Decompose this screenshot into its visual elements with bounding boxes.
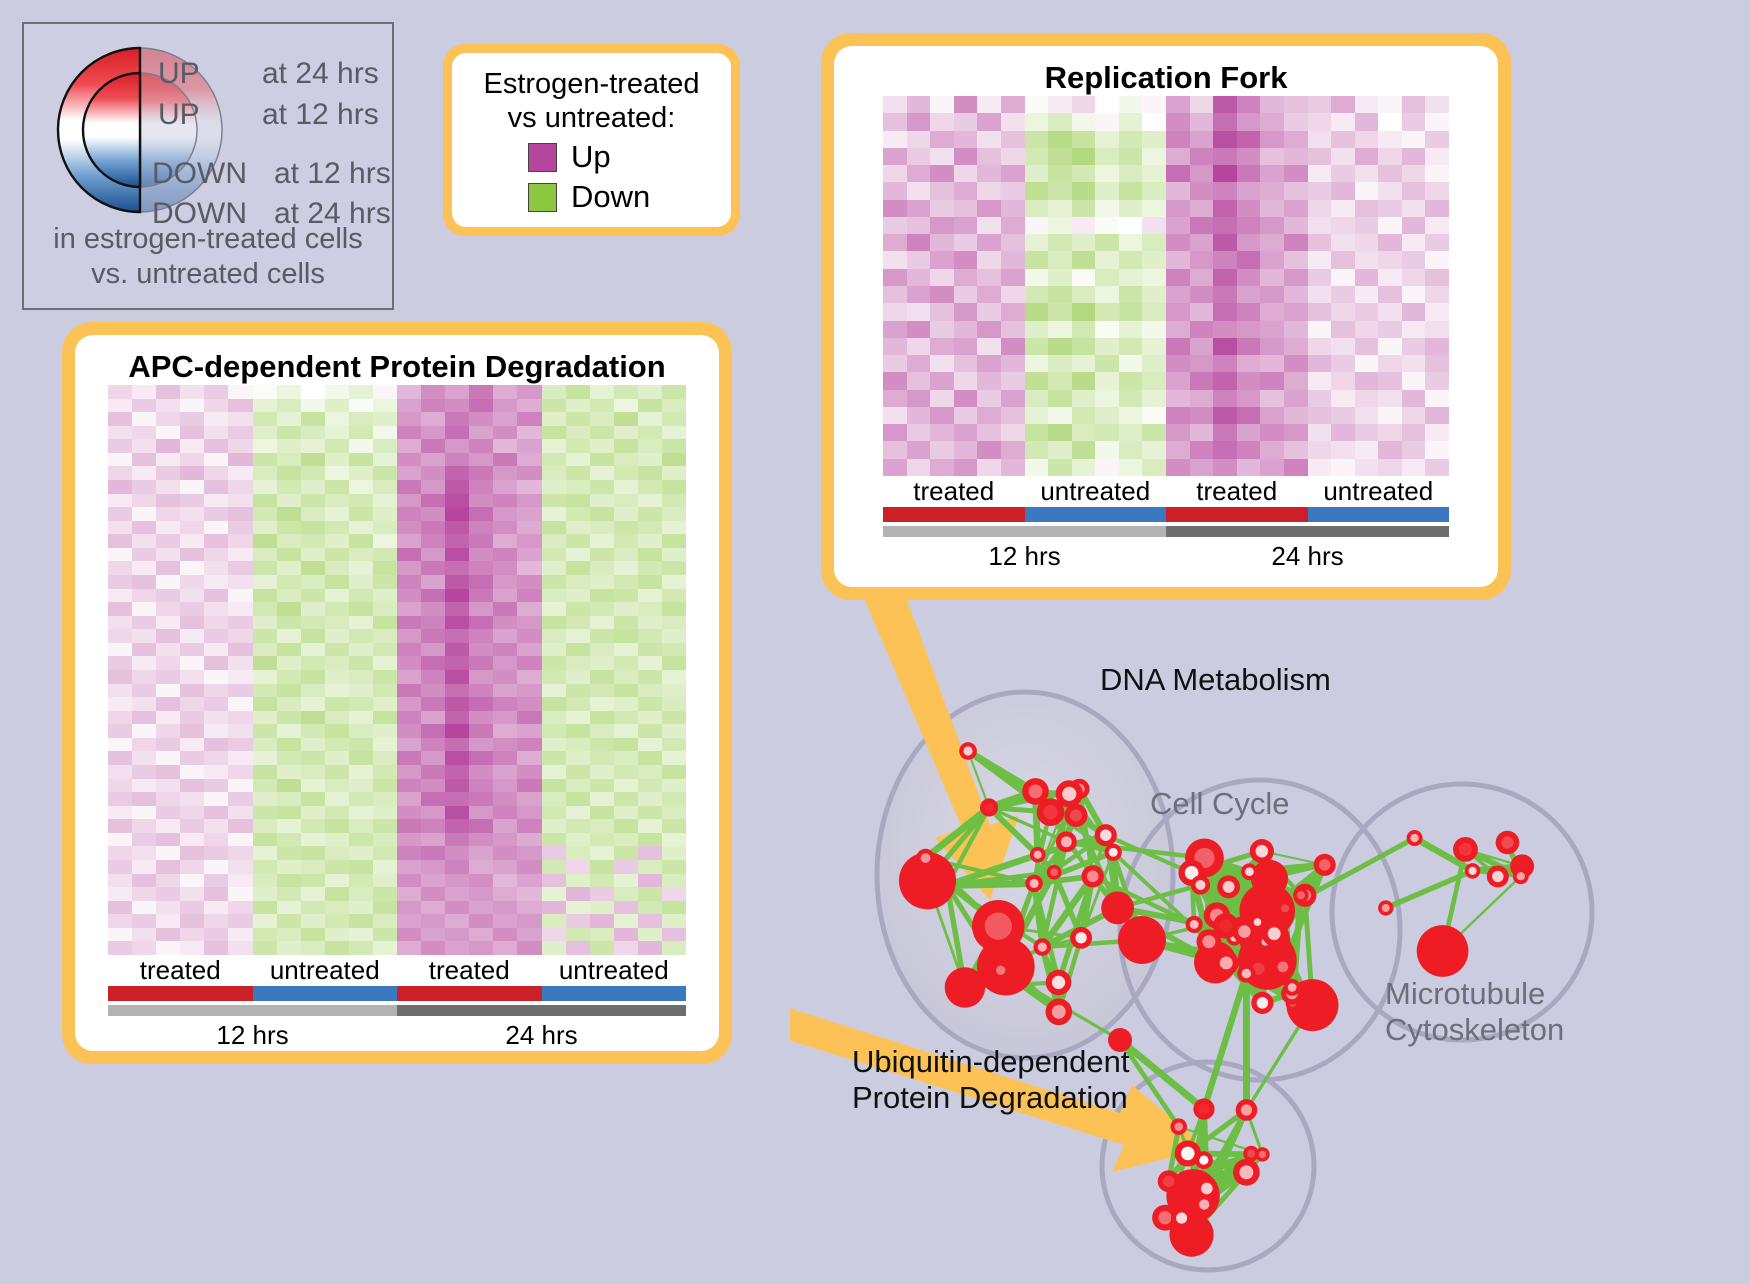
heatmap-cell — [1213, 182, 1237, 199]
heatmap-cell — [977, 355, 1001, 372]
heatmap-cell — [1095, 424, 1119, 441]
network-node[interactable] — [1170, 1118, 1187, 1135]
heatmap-cell — [373, 751, 397, 765]
node-inner-fill — [1382, 904, 1390, 912]
heatmap-cell — [469, 874, 493, 888]
heatmap-cell — [566, 670, 590, 684]
heatmap-cell — [277, 548, 301, 562]
heatmap-cell — [930, 251, 954, 268]
heatmap-cell — [397, 643, 421, 657]
heatmap-cell — [132, 684, 156, 698]
network-node[interactable] — [1241, 863, 1258, 880]
network-node[interactable] — [1186, 916, 1203, 933]
network-node[interactable] — [1193, 1098, 1214, 1119]
heatmap-cell — [1025, 269, 1049, 286]
heatmap-cell — [204, 643, 228, 657]
heatmap-cell — [373, 765, 397, 779]
heatmap-cell — [349, 439, 373, 453]
heatmap-cell — [156, 426, 180, 440]
network-node[interactable] — [1236, 1099, 1258, 1121]
heatmap-cell — [566, 399, 590, 413]
heatmap-cell — [662, 941, 686, 955]
heatmap-cell — [277, 914, 301, 928]
heatmap-cell — [325, 765, 349, 779]
heatmap-cell — [325, 779, 349, 793]
heatmap-cell — [373, 629, 397, 643]
heatmap-cell — [108, 724, 132, 738]
heatmap-cell — [445, 751, 469, 765]
heatmap-cell — [1355, 424, 1379, 441]
heatmap-cell — [638, 928, 662, 942]
heatmap-cell — [228, 575, 252, 589]
heatmap-cell — [1284, 113, 1308, 130]
network-node[interactable] — [1101, 892, 1134, 925]
heatmap-cell — [301, 928, 325, 942]
network-node[interactable] — [940, 878, 955, 893]
heatmap-cell — [1331, 251, 1355, 268]
heatmap-cell — [590, 765, 614, 779]
heatmap-cell — [301, 941, 325, 955]
heatmap-cell — [590, 494, 614, 508]
heatmap-cell — [662, 643, 686, 657]
heatmap-cell — [277, 887, 301, 901]
network-node[interactable] — [1273, 957, 1294, 978]
heatmap-cell — [542, 643, 566, 657]
heatmap-cell — [325, 412, 349, 426]
network-node[interactable] — [1056, 780, 1083, 807]
heatmap-cell — [1331, 390, 1355, 407]
network-node[interactable] — [1095, 824, 1117, 846]
heatmap-cell — [907, 217, 931, 234]
heatmap-cell — [1331, 182, 1355, 199]
heatmap-cell — [156, 711, 180, 725]
heatmap-cell — [638, 765, 662, 779]
heatmap-cell — [614, 697, 638, 711]
heatmap-cell — [108, 874, 132, 888]
heatmap-cell — [445, 466, 469, 480]
heatmap-cell — [180, 724, 204, 738]
heatmap-cell — [397, 629, 421, 643]
heatmap-cell — [325, 846, 349, 860]
heatmap-cell — [108, 711, 132, 725]
network-node[interactable] — [1262, 921, 1287, 946]
heatmap-cell — [156, 548, 180, 562]
heatmap-cell — [204, 751, 228, 765]
heatmap-cell — [445, 887, 469, 901]
heatmap-cell — [614, 711, 638, 725]
heatmap-cell — [277, 616, 301, 630]
heatmap-cell — [325, 466, 349, 480]
heatmap-cell — [1402, 131, 1426, 148]
heatmap-cell — [301, 860, 325, 874]
heatmap-cell — [590, 466, 614, 480]
heatmap-cell — [493, 846, 517, 860]
heatmap-cell — [325, 656, 349, 670]
group-label-treated-0: treated — [883, 476, 1025, 507]
heatmap-cell — [954, 182, 978, 199]
heatmap-cell — [1190, 407, 1214, 424]
heatmap-cell — [590, 561, 614, 575]
heatmap-cell — [373, 887, 397, 901]
heatmap-cell — [614, 914, 638, 928]
heatmap-cell — [1213, 113, 1237, 130]
network-node[interactable] — [1105, 844, 1122, 861]
heatmap-cell — [638, 385, 662, 399]
heatmap-cell — [1142, 355, 1166, 372]
heatmap-cell — [1048, 113, 1072, 130]
heatmap-cell — [883, 407, 907, 424]
heatmap-cell — [469, 480, 493, 494]
network-node[interactable] — [1056, 831, 1077, 852]
heatmap-cell — [445, 928, 469, 942]
heatmap-cell — [493, 453, 517, 467]
heatmap-cell — [614, 901, 638, 915]
heatmap-cell — [373, 792, 397, 806]
heatmap-cell — [1166, 286, 1190, 303]
heatmap-cell — [638, 534, 662, 548]
network-node[interactable] — [1293, 887, 1309, 903]
heatmap-cell — [469, 914, 493, 928]
heatmap-cell — [349, 941, 373, 955]
heatmap-cell — [1001, 165, 1025, 182]
heatmap-cell — [1378, 269, 1402, 286]
heatmap-cell — [493, 819, 517, 833]
heatmap-cell — [590, 779, 614, 793]
heatmap-cell — [542, 589, 566, 603]
network-node[interactable] — [1250, 839, 1274, 863]
group-label-treated-0: treated — [108, 955, 253, 986]
network-node[interactable] — [1214, 951, 1239, 976]
heatmap-cell — [1048, 355, 1072, 372]
heatmap-cell — [445, 548, 469, 562]
heatmap-cell — [228, 751, 252, 765]
heatmap-cell — [421, 738, 445, 752]
heatmap-cell — [930, 217, 954, 234]
updown-legend-item-down: Down — [528, 179, 731, 215]
heatmap-cell — [614, 616, 638, 630]
network-node[interactable] — [1045, 999, 1072, 1026]
heatmap-cell — [1213, 251, 1237, 268]
heatmap-cell — [1425, 441, 1449, 458]
heatmap-cell — [1072, 113, 1096, 130]
heatmap-cell — [156, 656, 180, 670]
network-node[interactable] — [1237, 964, 1255, 982]
heatmap-cell — [566, 453, 590, 467]
heatmap-cell — [373, 846, 397, 860]
heatmap-cell — [349, 453, 373, 467]
heatmap-cell — [907, 234, 931, 251]
network-node[interactable] — [1082, 865, 1104, 887]
heatmap-cell — [566, 480, 590, 494]
heatmap-cell — [1331, 424, 1355, 441]
updown-legend-header-line1: Estrogen-treated — [452, 67, 731, 101]
heatmap-cell — [1142, 113, 1166, 130]
heatmap-cell — [204, 453, 228, 467]
network-node[interactable] — [1314, 854, 1336, 876]
heatmap-cell — [517, 521, 541, 535]
heatmap-cell — [1001, 269, 1025, 286]
heatmap-cell — [1025, 113, 1049, 130]
heatmap-cell — [108, 589, 132, 603]
network-node[interactable] — [1158, 1170, 1180, 1192]
heatmap-cell — [1331, 338, 1355, 355]
heatmap-cell — [1378, 165, 1402, 182]
heatmap-cell — [349, 860, 373, 874]
node-inner-fill — [1034, 851, 1042, 859]
heatmap-cell — [1425, 251, 1449, 268]
heatmap-cell — [469, 507, 493, 521]
heatmap-cell — [638, 439, 662, 453]
heatmap-cell — [517, 711, 541, 725]
heatmap-cell — [421, 697, 445, 711]
heatmap-cell — [132, 643, 156, 657]
node-inner-fill — [1281, 904, 1289, 912]
heatmap-cell — [493, 779, 517, 793]
heatmap-cell — [1190, 217, 1214, 234]
network-node[interactable] — [1407, 830, 1423, 846]
heatmap-cell — [662, 589, 686, 603]
heatmap-cell — [977, 148, 1001, 165]
heatmap-cell — [325, 399, 349, 413]
heatmap-cell — [156, 779, 180, 793]
heatmap-cell — [228, 860, 252, 874]
heatmap-cell — [469, 670, 493, 684]
heatmap-cell — [1166, 234, 1190, 251]
heatmap-cell — [108, 521, 132, 535]
heatmap-cell — [977, 303, 1001, 320]
heatmap-cell — [1402, 165, 1426, 182]
heatmap-cell — [301, 846, 325, 860]
heatmap-cell — [228, 507, 252, 521]
heatmap-cell — [1308, 441, 1332, 458]
heatmap-cell — [517, 874, 541, 888]
heatmap-cell — [228, 901, 252, 915]
heatmap-cell — [373, 711, 397, 725]
heatmap-cell — [638, 819, 662, 833]
updown-legend-item-up: Up — [528, 139, 731, 175]
heatmap-cell — [469, 765, 493, 779]
heatmap-cell — [1048, 321, 1072, 338]
network-node[interactable] — [916, 849, 935, 868]
network-node[interactable] — [1284, 979, 1301, 996]
network-node[interactable] — [1047, 865, 1062, 880]
heatmap-cell — [566, 928, 590, 942]
heatmap-cell — [590, 860, 614, 874]
heatmap-cell — [517, 765, 541, 779]
network-node[interactable] — [1118, 916, 1166, 964]
heatmap-cell — [1402, 113, 1426, 130]
heatmap-cell — [542, 860, 566, 874]
heatmap-cell — [907, 96, 931, 113]
heatmap-cell — [566, 589, 590, 603]
heatmap-cell — [1355, 286, 1379, 303]
heatmap-cell — [108, 684, 132, 698]
heatmap-cell — [517, 670, 541, 684]
heatmap-cell — [180, 426, 204, 440]
heatmap-cell — [1355, 390, 1379, 407]
heatmap-cell — [638, 629, 662, 643]
heatmap-cell — [517, 602, 541, 616]
network-node[interactable] — [1175, 1140, 1201, 1166]
heatmap-cell — [108, 656, 132, 670]
heatmap-cell — [493, 412, 517, 426]
heatmap-cell — [907, 321, 931, 338]
heatmap-cell — [397, 399, 421, 413]
network-node[interactable] — [1417, 925, 1469, 977]
heatmap-cell — [1260, 148, 1284, 165]
heatmap-cell — [1190, 131, 1214, 148]
heatmap-cell — [1095, 286, 1119, 303]
heatmap-cell — [301, 548, 325, 562]
heatmap-cell — [204, 697, 228, 711]
heatmap-cell — [1025, 441, 1049, 458]
heatmap-cell — [566, 819, 590, 833]
heatmap-cell — [253, 643, 277, 657]
network-node[interactable] — [1070, 927, 1092, 949]
heatmap-cell — [1284, 131, 1308, 148]
heatmap-cell — [977, 234, 1001, 251]
heatmap-cell — [132, 846, 156, 860]
heatmap-cell — [397, 819, 421, 833]
heatmap-cell — [1355, 372, 1379, 389]
heatmap-cell — [397, 385, 421, 399]
heatmap-cell — [493, 466, 517, 480]
heatmap-cell — [421, 453, 445, 467]
network-node[interactable] — [1064, 804, 1087, 827]
heatmap-cell — [132, 928, 156, 942]
heatmap-cell — [542, 819, 566, 833]
heatmap-cell — [156, 806, 180, 820]
network-node[interactable] — [1233, 1159, 1260, 1186]
heatmap-cell — [1142, 390, 1166, 407]
heatmap-cell — [132, 887, 156, 901]
heatmap-cell — [228, 914, 252, 928]
heatmap-cell — [349, 914, 373, 928]
node-inner-fill — [921, 853, 931, 863]
heatmap-cell — [253, 629, 277, 643]
heatmap-cell — [397, 656, 421, 670]
network-node[interactable] — [1046, 970, 1072, 996]
network-node[interactable] — [1465, 863, 1480, 878]
network-node[interactable] — [1191, 875, 1210, 894]
heatmap-cell — [132, 901, 156, 915]
heatmap-cell — [566, 616, 590, 630]
down-label: Down — [571, 179, 650, 215]
network-node[interactable] — [1378, 900, 1393, 915]
network-node[interactable] — [1030, 847, 1046, 863]
network-node[interactable] — [1255, 1147, 1269, 1161]
heatmap-cell — [469, 887, 493, 901]
network-node[interactable] — [1453, 837, 1478, 862]
network-node[interactable] — [1171, 1207, 1192, 1228]
network-node[interactable] — [980, 798, 998, 816]
network-node[interactable] — [1196, 1177, 1218, 1199]
network-node[interactable] — [1232, 920, 1256, 944]
heatmap-cell — [132, 765, 156, 779]
heatmap-cell — [517, 575, 541, 589]
heatmap-cell — [566, 901, 590, 915]
heatmap-cell — [1166, 303, 1190, 320]
heatmap-cell — [493, 833, 517, 847]
heatmap-cell — [1355, 217, 1379, 234]
heatmap-cell — [1190, 200, 1214, 217]
network-node[interactable] — [1022, 778, 1049, 805]
heatmap-cell — [566, 860, 590, 874]
heatmap-cell — [301, 494, 325, 508]
heatmap-cell — [1166, 390, 1190, 407]
cluster-label-microtubule-line2: Cytoskeleton — [1385, 1012, 1564, 1048]
heatmap-cell — [590, 507, 614, 521]
heatmap-cell — [1119, 96, 1143, 113]
network-node[interactable] — [1277, 901, 1292, 916]
heatmap-cell — [373, 480, 397, 494]
heatmap-cell — [1001, 390, 1025, 407]
heatmap-cell — [445, 507, 469, 521]
heatmap-cell — [517, 548, 541, 562]
heatmap-cell — [907, 441, 931, 458]
network-node[interactable] — [1025, 875, 1042, 892]
network-node[interactable] — [1217, 875, 1240, 898]
heatmap-cell — [1260, 286, 1284, 303]
network-node[interactable] — [1251, 992, 1273, 1014]
heatmap-cell — [662, 507, 686, 521]
heatmap-cell — [517, 738, 541, 752]
network-node[interactable] — [1034, 938, 1052, 956]
heatmap-cell — [421, 887, 445, 901]
time-label-0: 12 hrs — [108, 1020, 397, 1051]
heatmap-cell — [954, 200, 978, 217]
network-node[interactable] — [992, 961, 1010, 979]
heatmap-cell — [1237, 182, 1261, 199]
heatmap-cell — [542, 412, 566, 426]
network-node[interactable] — [1496, 831, 1520, 855]
heatmap-cell — [662, 534, 686, 548]
heatmap-cell — [1213, 459, 1237, 476]
heatmap-cell — [373, 426, 397, 440]
network-node[interactable] — [959, 742, 977, 760]
heatmap-cell — [373, 738, 397, 752]
heatmap-cell — [445, 833, 469, 847]
heatmap-cell — [977, 113, 1001, 130]
heatmap-cell — [1331, 355, 1355, 372]
heatmap-cell — [204, 806, 228, 820]
heatmap-cell — [542, 561, 566, 575]
heatmap-cell — [277, 589, 301, 603]
heatmap-cell — [493, 914, 517, 928]
heatmap-cell — [180, 480, 204, 494]
network-node[interactable] — [972, 900, 1024, 952]
network-node[interactable] — [1513, 868, 1529, 884]
heatmap-cell — [907, 148, 931, 165]
heatmap-cell — [1048, 459, 1072, 476]
heatmap-cell — [445, 521, 469, 535]
heatmap-cell — [1308, 372, 1332, 389]
heatmap-cell — [883, 113, 907, 130]
network-node[interactable] — [1487, 865, 1509, 887]
heatmap-cell — [132, 806, 156, 820]
heatmap-cell — [662, 385, 686, 399]
heatmap-cell — [228, 656, 252, 670]
heatmap-cell — [301, 819, 325, 833]
treatment-bar-segment-2 — [397, 986, 542, 1001]
heatmap-cell — [590, 751, 614, 765]
heatmap-cell — [566, 684, 590, 698]
heatmap-cell — [493, 792, 517, 806]
heatmap-cell — [590, 941, 614, 955]
heatmap-cell — [542, 711, 566, 725]
heatmap-cell — [156, 941, 180, 955]
heatmap-cell — [590, 548, 614, 562]
